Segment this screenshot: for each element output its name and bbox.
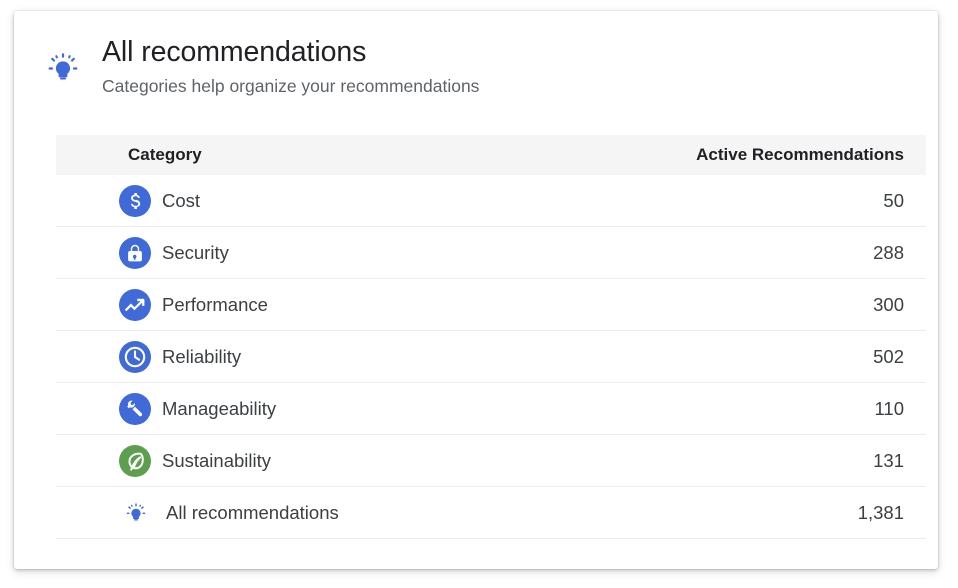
category-label: Manageability bbox=[162, 398, 276, 420]
reliability-clock-icon bbox=[118, 340, 152, 374]
cell-category: All recommendations bbox=[56, 500, 858, 526]
recommendations-table: Category Active Recommendations Cost50Se… bbox=[56, 135, 926, 539]
category-label: Cost bbox=[162, 190, 200, 212]
cell-category: Reliability bbox=[56, 340, 873, 374]
active-recommendations-count: 1,381 bbox=[858, 502, 926, 524]
active-recommendations-count: 502 bbox=[873, 346, 926, 368]
cost-dollar-icon bbox=[118, 184, 152, 218]
table-row[interactable]: Manageability110 bbox=[56, 383, 926, 435]
active-recommendations-count: 300 bbox=[873, 294, 926, 316]
performance-trending-icon bbox=[118, 288, 152, 322]
security-lock-icon bbox=[118, 236, 152, 270]
active-recommendations-count: 110 bbox=[875, 398, 927, 420]
table-row[interactable]: Performance300 bbox=[56, 279, 926, 331]
lightbulb-icon bbox=[123, 500, 149, 526]
column-header-active-recommendations: Active Recommendations bbox=[696, 145, 926, 165]
lightbulb-icon bbox=[43, 48, 83, 88]
page-title: All recommendations bbox=[102, 33, 918, 71]
active-recommendations-count: 131 bbox=[873, 450, 926, 472]
category-label: Sustainability bbox=[162, 450, 271, 472]
cell-category: Sustainability bbox=[56, 444, 873, 478]
page-root: All recommendations Categories help orga… bbox=[0, 0, 958, 588]
table-row[interactable]: All recommendations1,381 bbox=[56, 487, 926, 539]
sustainability-leaf-icon bbox=[118, 444, 152, 478]
column-header-category: Category bbox=[56, 145, 696, 165]
category-label: Performance bbox=[162, 294, 268, 316]
cell-category: Manageability bbox=[56, 392, 875, 426]
cell-category: Security bbox=[56, 236, 873, 270]
table-row[interactable]: Sustainability131 bbox=[56, 435, 926, 487]
table-row[interactable]: Reliability502 bbox=[56, 331, 926, 383]
cell-category: Cost bbox=[56, 184, 883, 218]
active-recommendations-count: 288 bbox=[873, 242, 926, 264]
table-body: Cost50Security288Performance300Reliabili… bbox=[56, 175, 926, 539]
category-label: Reliability bbox=[162, 346, 241, 368]
active-recommendations-count: 50 bbox=[883, 190, 926, 212]
cell-category: Performance bbox=[56, 288, 873, 322]
table-header-row: Category Active Recommendations bbox=[56, 135, 926, 175]
category-label: All recommendations bbox=[166, 502, 339, 524]
card-subtitle: Categories help organize your recommenda… bbox=[102, 74, 918, 98]
card-header: All recommendations Categories help orga… bbox=[14, 11, 938, 111]
all-recommendations-card: All recommendations Categories help orga… bbox=[14, 11, 938, 569]
manageability-wrench-icon bbox=[118, 392, 152, 426]
table-row[interactable]: Cost50 bbox=[56, 175, 926, 227]
category-label: Security bbox=[162, 242, 229, 264]
table-row[interactable]: Security288 bbox=[56, 227, 926, 279]
card-header-text: All recommendations Categories help orga… bbox=[102, 33, 918, 98]
